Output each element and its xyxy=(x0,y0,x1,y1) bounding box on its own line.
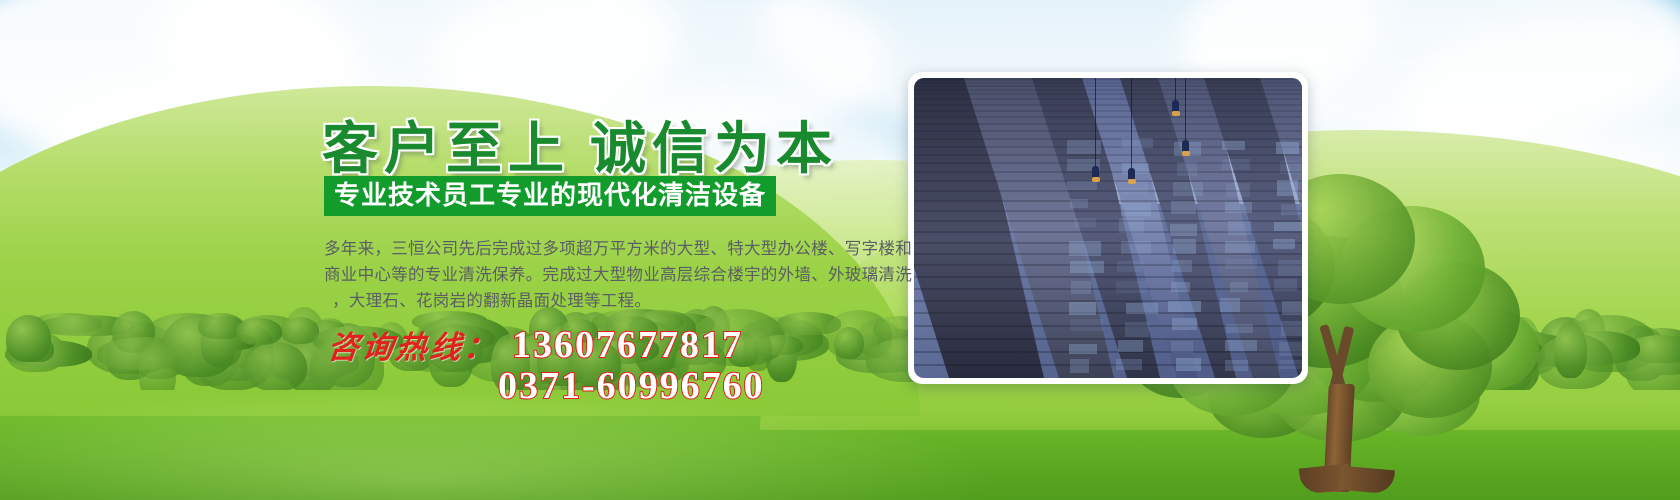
bush-icon xyxy=(246,342,307,390)
page-title: 客户至上 诚信为本 xyxy=(322,104,838,185)
facade-floor-line xyxy=(914,138,1302,140)
description-line-1: 多年来，三恒公司先后完成过多项超万平方米的大型、特大型办公楼、写字楼和 xyxy=(324,236,894,262)
window-glass xyxy=(1116,281,1147,293)
window-glass xyxy=(1171,341,1193,353)
window-glass xyxy=(1071,281,1091,293)
window-glass xyxy=(1116,359,1142,370)
hotline-row: 咨询热线： 13607677817 xyxy=(328,322,743,367)
window-cleaner-worker xyxy=(1172,100,1179,113)
window-glass xyxy=(1274,222,1302,232)
window-glass xyxy=(1173,182,1203,196)
facade-floor-line xyxy=(914,82,1302,84)
window-glass xyxy=(1069,344,1097,354)
window-glass xyxy=(1172,260,1192,272)
window-glass xyxy=(1122,138,1153,148)
window-glass xyxy=(1230,282,1248,291)
window-glass xyxy=(1278,260,1302,276)
window-glass xyxy=(1226,324,1252,333)
window-glass xyxy=(1222,141,1246,150)
facade-floor-line xyxy=(914,253,1302,255)
facade-floor-line xyxy=(914,85,1302,87)
window-glass xyxy=(1119,218,1144,233)
window-glass xyxy=(1226,183,1250,197)
window-glass xyxy=(1070,359,1089,373)
window-glass xyxy=(1225,360,1248,371)
facade-floor-line xyxy=(914,171,1302,173)
facade-floor-line xyxy=(914,276,1302,278)
rappel-rope xyxy=(1175,78,1176,100)
bush-icon xyxy=(6,315,51,362)
window-cleaner-worker xyxy=(1182,140,1189,153)
phone-primary[interactable]: 13607677817 xyxy=(512,323,743,367)
rappel-rope xyxy=(1131,78,1132,168)
high-rise-window-cleaning-photo xyxy=(914,78,1302,378)
window-glass xyxy=(1282,301,1302,315)
bush-icon xyxy=(139,339,175,390)
facade-floor-line xyxy=(914,130,1302,132)
description-line-3: ，大理石、花岗岩的翻新晶面处理等工程。 xyxy=(324,288,894,314)
window-glass xyxy=(1117,261,1141,273)
facade-floor-line xyxy=(914,93,1302,95)
window-glass xyxy=(1177,162,1198,176)
window-glass xyxy=(1222,159,1251,170)
facade-floor-line xyxy=(914,89,1302,91)
phone-secondary[interactable]: 0371-60996760 xyxy=(498,364,765,408)
window-glass xyxy=(1121,203,1151,215)
facade-floor-line xyxy=(914,110,1302,112)
facade-floor-line xyxy=(914,300,1302,302)
window-glass xyxy=(1069,241,1101,255)
window-glass xyxy=(1118,340,1143,352)
window-glass xyxy=(1176,358,1201,371)
window-cleaner-worker xyxy=(1128,168,1135,181)
window-glass xyxy=(1225,340,1257,351)
window-glass xyxy=(1125,322,1149,337)
window-glass xyxy=(1279,360,1302,370)
window-glass xyxy=(1280,161,1302,174)
facade-floor-line xyxy=(914,104,1302,106)
bush-icon xyxy=(834,327,864,359)
window-glass xyxy=(1126,303,1158,314)
window-glass xyxy=(1281,321,1302,336)
window-glass xyxy=(1074,218,1096,227)
window-glass xyxy=(1225,241,1255,253)
subtitle-text: 专业技术员工专业的现代化清洁设备 xyxy=(334,183,766,209)
rappel-rope xyxy=(1185,78,1186,140)
rappel-rope xyxy=(1095,78,1096,166)
window-glass xyxy=(1168,301,1201,312)
window-cleaner-worker xyxy=(1092,166,1099,179)
window-glass xyxy=(1172,318,1197,330)
building-photo-frame[interactable] xyxy=(908,72,1308,384)
window-glass xyxy=(1070,319,1104,331)
window-glass xyxy=(1069,302,1096,315)
window-glass xyxy=(1070,199,1088,209)
window-glass xyxy=(1277,180,1298,196)
window-glass xyxy=(1170,224,1198,237)
window-glass xyxy=(1276,142,1299,154)
description-paragraph: 多年来，三恒公司先后完成过多项超万平方米的大型、特大型办公楼、写字楼和 商业中心… xyxy=(324,236,894,314)
window-glass xyxy=(1225,259,1258,270)
window-glass xyxy=(1067,181,1098,191)
facade-floor-line xyxy=(914,312,1302,314)
window-glass xyxy=(1070,261,1103,272)
bush-icon xyxy=(236,318,282,345)
facade-floor-line xyxy=(914,116,1302,118)
window-glass xyxy=(1121,241,1151,254)
window-glass xyxy=(1220,298,1240,311)
description-line-2: 商业中心等的专业清洗保养。完成过大型物业高层综合楼宇的外墙、外玻璃清洗 xyxy=(324,262,894,288)
promo-banner: 客户至上 诚信为本 专业技术员工专业的现代化清洁设备 多年来，三恒公司先后完成过… xyxy=(0,0,1680,500)
facade-floor-line xyxy=(914,351,1302,353)
window-glass xyxy=(1279,342,1302,356)
facade-floor-line xyxy=(914,98,1302,100)
facade-floor-line xyxy=(914,123,1302,125)
subtitle-bar: 专业技术员工专业的现代化清洁设备 xyxy=(324,176,776,216)
facade-floor-line xyxy=(914,154,1302,156)
window-glass xyxy=(1173,239,1196,254)
window-glass xyxy=(1281,204,1301,215)
window-glass xyxy=(1122,163,1150,173)
hotline-label: 咨询热线： xyxy=(326,322,501,367)
window-glass xyxy=(1171,282,1190,292)
window-glass xyxy=(1274,279,1297,290)
window-glass xyxy=(1273,239,1296,249)
window-glass xyxy=(1171,201,1196,214)
window-glass xyxy=(1228,221,1251,235)
window-glass xyxy=(1225,202,1252,212)
